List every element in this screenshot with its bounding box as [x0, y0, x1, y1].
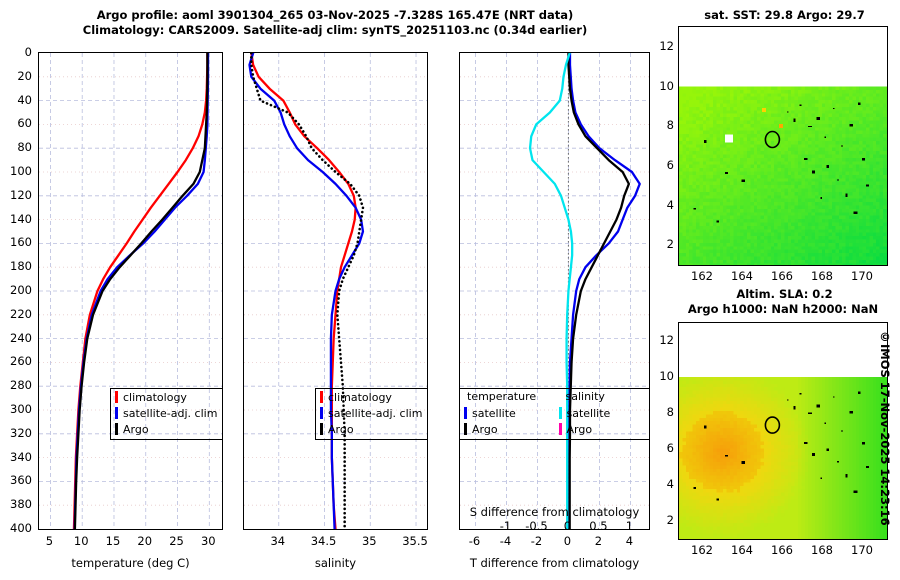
axis-tick: 20	[2, 69, 32, 83]
axis-tick: 380	[2, 497, 32, 511]
axis-tick: 166	[762, 269, 802, 283]
axis-tick: 166	[762, 543, 802, 557]
legend-header-temperature: temperature	[460, 389, 555, 405]
legend-item: satellite	[555, 405, 650, 421]
axis-tick: 34	[258, 534, 298, 548]
legend-swatch-s-argo	[559, 423, 562, 435]
axis-tick: 280	[2, 378, 32, 392]
sla-map-panel	[678, 322, 888, 540]
axis-tick: 6	[644, 158, 674, 172]
difference-legend: temperature satellite Argo salinity sate…	[459, 388, 650, 440]
axis-tick: 180	[2, 259, 32, 273]
legend-item: climatology	[111, 389, 222, 405]
difference-panel	[459, 52, 650, 530]
sst-map-panel	[678, 26, 888, 266]
axis-tick: 40	[2, 93, 32, 107]
axis-tick: 400	[2, 521, 32, 535]
axis-tick: 140	[2, 212, 32, 226]
axis-tick: 12	[644, 39, 674, 53]
legend-item: climatology	[316, 389, 427, 405]
axis-tick: 320	[2, 426, 32, 440]
legend-swatch-argo	[115, 423, 118, 435]
page-title-line1: Argo profile: aoml 3901304_265 03-Nov-20…	[0, 8, 670, 22]
temperature-panel	[38, 52, 223, 530]
axis-tick: 160	[2, 235, 32, 249]
axis-tick: 10	[644, 369, 674, 383]
sst-map-title: sat. SST: 29.8 Argo: 29.7	[672, 8, 897, 22]
axis-tick: 164	[722, 543, 762, 557]
temperature-xlabel: temperature (deg C)	[38, 556, 223, 570]
axis-tick: 4	[644, 477, 674, 491]
temperature-legend: climatology satellite-adj. clim Argo	[110, 388, 223, 440]
salinity-legend: climatology satellite-adj. clim Argo	[315, 388, 428, 440]
legend-label: satellite	[567, 407, 611, 420]
axis-tick: 12	[644, 333, 674, 347]
legend-label: Argo	[472, 423, 498, 436]
legend-swatch-argo	[320, 423, 323, 435]
axis-tick: 4	[644, 198, 674, 212]
copyright-text: ©IMOS 17-Nov-2025 14:23:16	[878, 330, 892, 526]
axis-tick: 220	[2, 307, 32, 321]
salinity-xlabel: salinity	[243, 556, 428, 570]
axis-tick: 60	[2, 116, 32, 130]
difference-legend-salinity-column: salinity satellite Argo	[555, 389, 650, 439]
axis-tick: 300	[2, 402, 32, 416]
axis-tick: 360	[2, 473, 32, 487]
legend-swatch-t-satellite	[464, 407, 467, 419]
legend-item: Argo	[316, 421, 427, 437]
axis-tick: 170	[842, 543, 882, 557]
page-title-line2: Climatology: CARS2009. Satellite-adj cli…	[0, 23, 670, 37]
axis-tick: 2	[644, 237, 674, 251]
sla-map-title-line1: Altim. SLA: 0.2	[672, 287, 897, 301]
difference-legend-temperature-column: temperature satellite Argo	[460, 389, 555, 439]
legend-swatch-t-argo	[464, 423, 467, 435]
legend-label: satellite-adj. clim	[123, 407, 217, 420]
legend-label: satellite-adj. clim	[328, 407, 422, 420]
legend-header-salinity: salinity	[555, 389, 650, 405]
difference-xlabel: T difference from climatology	[452, 556, 657, 570]
legend-item: satellite	[460, 405, 555, 421]
axis-tick: 162	[682, 269, 722, 283]
axis-tick: 4	[609, 534, 649, 548]
axis-tick: 35	[349, 534, 389, 548]
axis-tick: 164	[722, 269, 762, 283]
axis-tick: 8	[644, 405, 674, 419]
axis-tick: 100	[2, 164, 32, 178]
axis-tick: 120	[2, 188, 32, 202]
axis-tick: 240	[2, 331, 32, 345]
legend-label: Argo	[328, 423, 354, 436]
legend-item: Argo	[555, 421, 650, 437]
legend-label: Argo	[567, 423, 593, 436]
difference-xlabel-top: S difference from climatology	[452, 505, 657, 519]
axis-tick: 168	[802, 543, 842, 557]
legend-swatch-climatology	[115, 391, 118, 403]
legend-label: climatology	[328, 391, 392, 404]
legend-label: climatology	[123, 391, 187, 404]
axis-tick: 34.5	[304, 534, 344, 548]
axis-tick: 10	[644, 79, 674, 93]
axis-tick: 35.5	[395, 534, 435, 548]
legend-label: satellite	[472, 407, 516, 420]
salinity-panel	[243, 52, 428, 530]
legend-item: Argo	[111, 421, 222, 437]
legend-swatch-satellite-adj	[320, 407, 323, 419]
axis-tick: 8	[644, 118, 674, 132]
axis-tick: 30	[188, 534, 228, 548]
axis-tick: 170	[842, 269, 882, 283]
axis-tick: 260	[2, 354, 32, 368]
axis-tick: 6	[644, 441, 674, 455]
legend-item: Argo	[460, 421, 555, 437]
legend-swatch-climatology	[320, 391, 323, 403]
axis-tick: 168	[802, 269, 842, 283]
axis-tick: 200	[2, 283, 32, 297]
legend-label: Argo	[123, 423, 149, 436]
axis-tick: 0	[2, 45, 32, 59]
legend-item: satellite-adj. clim	[316, 405, 427, 421]
legend-swatch-satellite-adj	[115, 407, 118, 419]
axis-tick: 162	[682, 543, 722, 557]
sla-map-title-line2: Argo h1000: NaN h2000: NaN	[666, 302, 900, 316]
axis-tick: 340	[2, 450, 32, 464]
axis-tick: 80	[2, 140, 32, 154]
axis-tick: 2	[644, 513, 674, 527]
legend-item: satellite-adj. clim	[111, 405, 222, 421]
legend-swatch-s-satellite	[559, 407, 562, 419]
